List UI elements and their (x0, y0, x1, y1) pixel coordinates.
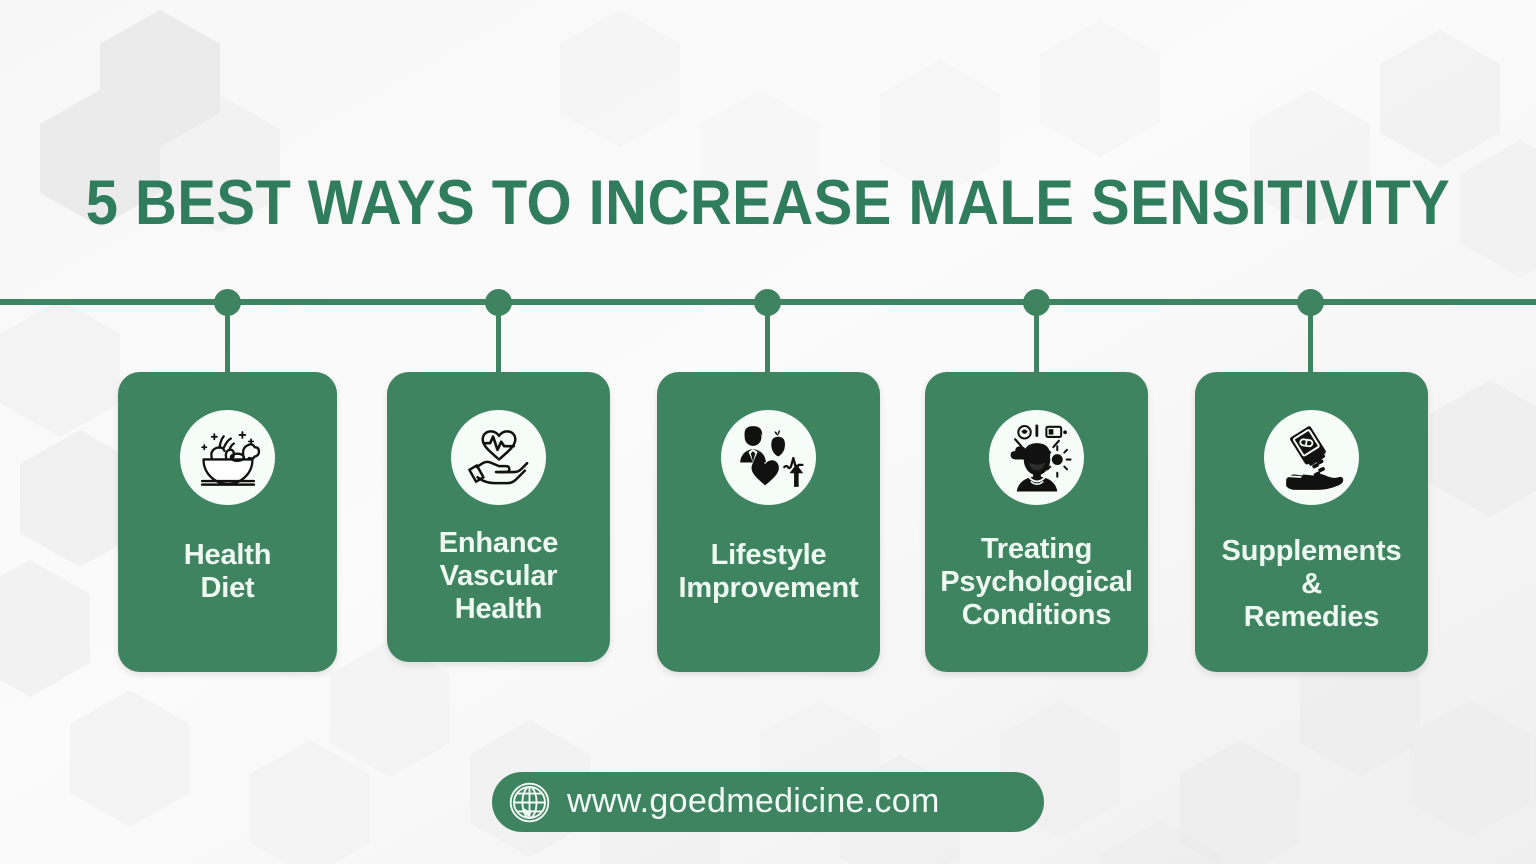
card-label-4: Treating Psychological Conditions (934, 533, 1138, 632)
timeline-dot-2[interactable] (485, 289, 512, 316)
lifestyle-person-apple-heart-icon (721, 410, 816, 505)
card-label-4-line2: Psychological (940, 566, 1132, 599)
infographic-poster: 5 BEST WAYS TO INCREASE MALE SENSITIVITY (0, 0, 1536, 864)
page-title: 5 BEST WAYS TO INCREASE MALE SENSITIVITY (61, 170, 1474, 236)
card-label-1-line2: Diet (184, 572, 271, 605)
card-label-1-line1: Health (184, 539, 271, 572)
card-label-3: Lifestyle Improvement (673, 539, 865, 605)
card-lifestyle-improvement[interactable]: Lifestyle Improvement (657, 372, 880, 672)
card-enhance-vascular-health[interactable]: Enhance Vascular Health (387, 372, 610, 662)
card-label-4-line1: Treating (940, 533, 1132, 566)
card-label-5-line3: Remedies (1222, 601, 1402, 634)
website-url: www.goedmedicine.com (567, 784, 940, 821)
card-treating-psychological-conditions[interactable]: Treating Psychological Conditions (925, 372, 1148, 672)
timeline-dot-4[interactable] (1023, 289, 1050, 316)
card-label-2: Enhance Vascular Health (433, 527, 564, 626)
timeline-dot-3[interactable] (754, 289, 781, 316)
card-label-2-line2: Vascular (439, 560, 558, 593)
salad-bowl-icon (180, 410, 275, 505)
card-label-1: Health Diet (178, 539, 277, 605)
card-label-5: Supplements & Remedies (1216, 535, 1408, 634)
card-supplements-remedies[interactable]: Supplements & Remedies (1195, 372, 1428, 672)
card-label-5-line1: Supplements (1222, 535, 1402, 568)
pill-bottle-hand-icon (1264, 410, 1359, 505)
card-health-diet[interactable]: Health Diet (118, 372, 337, 672)
hand-heart-pulse-icon (451, 410, 546, 505)
timeline-dot-1[interactable] (214, 289, 241, 316)
card-label-2-line1: Enhance (439, 527, 558, 560)
card-label-3-line2: Improvement (679, 572, 859, 605)
card-label-2-line3: Health (439, 593, 558, 626)
globe-icon (506, 779, 553, 826)
card-label-3-line1: Lifestyle (679, 539, 859, 572)
card-label-4-line3: Conditions (940, 599, 1132, 632)
website-footer-badge[interactable]: www.goedmedicine.com (492, 772, 1044, 832)
timeline-dot-5[interactable] (1297, 289, 1324, 316)
stressed-person-icon (989, 410, 1084, 505)
card-label-5-line2: & (1222, 568, 1402, 601)
